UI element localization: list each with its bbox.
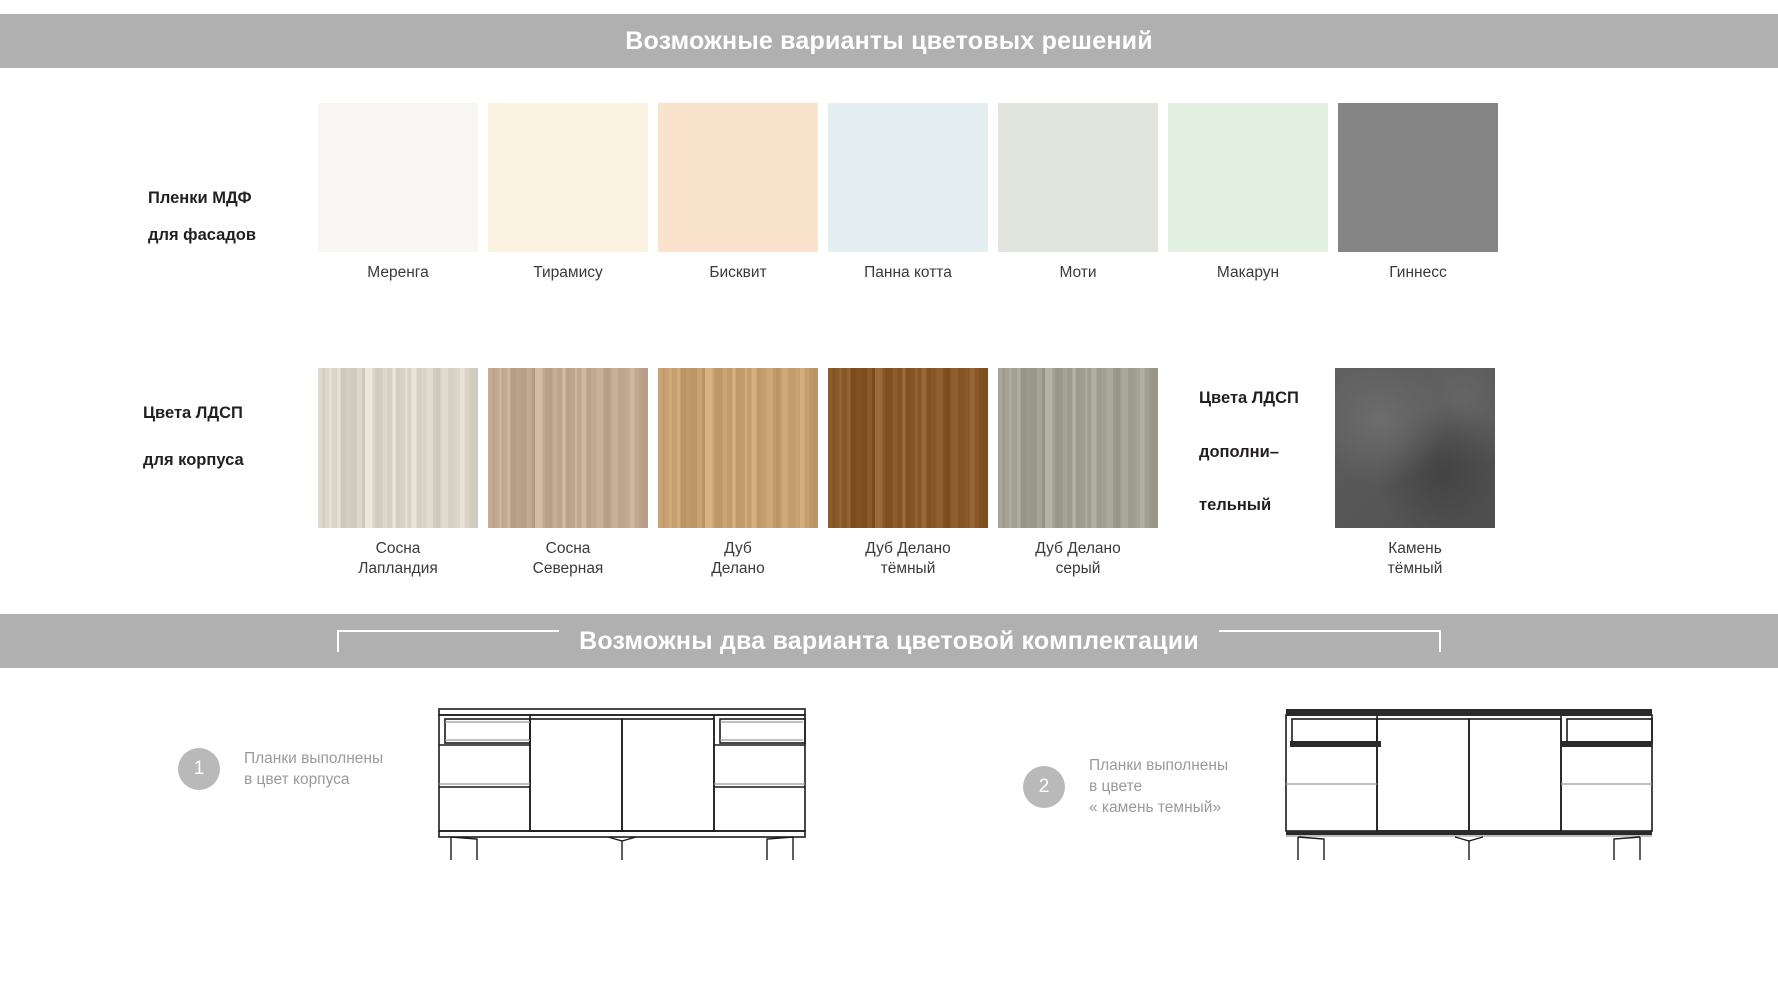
banner-top-title: Возможные варианты цветовых решений: [625, 27, 1153, 56]
banner-configuration-options: Возможны два варианта цветовой комплекта…: [0, 614, 1778, 668]
mdf-swatch[interactable]: Тирамису: [488, 103, 648, 283]
ldsp-extra-label-line1: Цвета ЛДСП: [1199, 380, 1299, 416]
mdf-swatch[interactable]: Бисквит: [658, 103, 818, 283]
sideboard-svg-2: [1284, 705, 1654, 860]
option-1-badge: 1: [178, 748, 220, 790]
ldsp-swatch-row: Сосна ЛапландияСосна СевернаяДуб ДеланоД…: [318, 368, 1158, 579]
sideboard-drawing-option-1: [437, 705, 807, 865]
ldsp-color-label: Сосна Лапландия: [318, 539, 478, 579]
mdf-color-label: Бисквит: [658, 263, 818, 283]
mdf-color-label: Тирамису: [488, 263, 648, 283]
ldsp-color-chip[interactable]: [828, 368, 988, 528]
ldsp-color-chip[interactable]: [318, 368, 478, 528]
mdf-color-chip[interactable]: [658, 103, 818, 252]
mdf-color-chip[interactable]: [488, 103, 648, 252]
option-1-text: Планки выполнены в цвет корпуса: [244, 748, 383, 790]
mdf-section-label-line2: для фасадов: [148, 217, 256, 253]
mdf-swatch-row: МеренгаТирамисуБисквитПанна коттаМотиМак…: [318, 103, 1498, 283]
ldsp-extra-color-chip[interactable]: [1335, 368, 1495, 528]
ldsp-color-chip[interactable]: [658, 368, 818, 528]
banner-bracket-left-icon: [337, 630, 559, 652]
ldsp-extra-swatch[interactable]: Камень тёмный: [1335, 368, 1495, 579]
ldsp-swatch[interactable]: Дуб Делано тёмный: [828, 368, 988, 579]
ldsp-color-chip[interactable]: [998, 368, 1158, 528]
mdf-swatch[interactable]: Гиннесс: [1338, 103, 1498, 283]
mdf-color-chip[interactable]: [318, 103, 478, 252]
mdf-swatch[interactable]: Панна котта: [828, 103, 988, 283]
option-2-badge: 2: [1023, 766, 1065, 808]
option-2[interactable]: 2 Планки выполнены в цвете « камень темн…: [1023, 755, 1228, 818]
sideboard-drawing-option-2: [1284, 705, 1654, 865]
option-1[interactable]: 1 Планки выполнены в цвет корпуса: [178, 748, 383, 790]
ldsp-section-label-line1: Цвета ЛДСП: [143, 395, 243, 431]
ldsp-extra-swatch-row: Камень тёмный: [1335, 368, 1495, 579]
banner-color-options: Возможные варианты цветовых решений: [0, 14, 1778, 68]
ldsp-color-label: Дуб Делано: [658, 539, 818, 579]
mdf-swatch[interactable]: Меренга: [318, 103, 478, 283]
mdf-swatch[interactable]: Макарун: [1168, 103, 1328, 283]
option-2-text: Планки выполнены в цвете « камень темный…: [1089, 755, 1228, 818]
mdf-color-label: Макарун: [1168, 263, 1328, 283]
ldsp-swatch[interactable]: Дуб Делано серый: [998, 368, 1158, 579]
ldsp-color-label: Дуб Делано серый: [998, 539, 1158, 579]
banner-mid-title: Возможны два варианта цветовой комплекта…: [579, 627, 1199, 656]
sideboard-svg-1: [437, 705, 807, 860]
ldsp-color-chip[interactable]: [488, 368, 648, 528]
mdf-color-label: Моти: [998, 263, 1158, 283]
ldsp-color-label: Сосна Северная: [488, 539, 648, 579]
mdf-color-label: Гиннесс: [1338, 263, 1498, 283]
mdf-section-label-line1: Пленки МДФ: [148, 180, 252, 216]
mdf-color-label: Панна котта: [828, 263, 988, 283]
ldsp-extra-color-label: Камень тёмный: [1335, 539, 1495, 579]
mdf-swatch[interactable]: Моти: [998, 103, 1158, 283]
ldsp-extra-label-line2: дополни–: [1199, 434, 1279, 470]
mdf-color-label: Меренга: [318, 263, 478, 283]
mdf-color-chip[interactable]: [998, 103, 1158, 252]
ldsp-color-label: Дуб Делано тёмный: [828, 539, 988, 579]
banner-bracket-right-icon: [1219, 630, 1441, 652]
mdf-color-chip[interactable]: [1168, 103, 1328, 252]
ldsp-swatch[interactable]: Дуб Делано: [658, 368, 818, 579]
mdf-color-chip[interactable]: [828, 103, 988, 252]
ldsp-swatch[interactable]: Сосна Лапландия: [318, 368, 478, 579]
mdf-color-chip[interactable]: [1338, 103, 1498, 252]
ldsp-section-label-line2: для корпуса: [143, 442, 244, 478]
ldsp-extra-label-line3: тельный: [1199, 487, 1271, 523]
ldsp-swatch[interactable]: Сосна Северная: [488, 368, 648, 579]
